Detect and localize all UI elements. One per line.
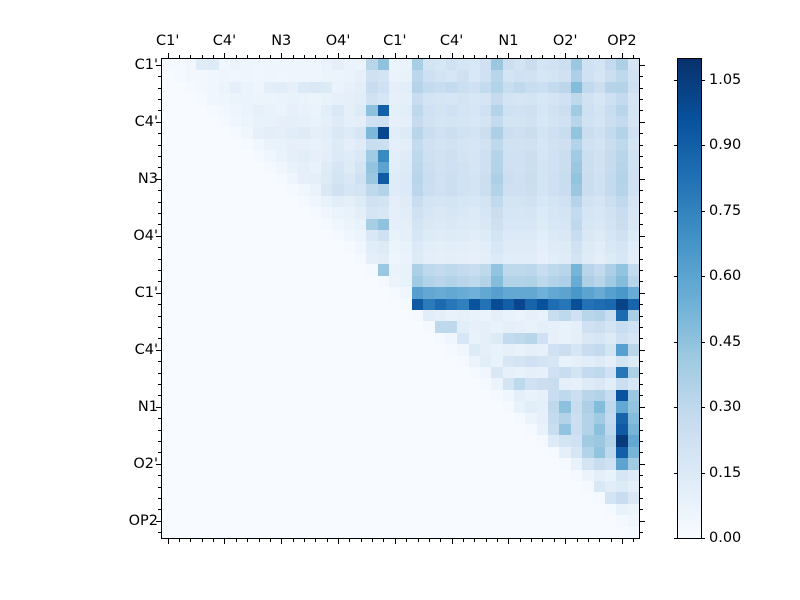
- heatmap-cell: [276, 435, 287, 446]
- heatmap-cell: [628, 378, 639, 389]
- heatmap-cell: [491, 481, 502, 492]
- y-tick: [639, 202, 643, 203]
- heatmap-cell: [616, 333, 627, 344]
- heatmap-cell: [435, 196, 446, 207]
- heatmap-cell: [344, 184, 355, 195]
- heatmap-cell: [503, 196, 514, 207]
- heatmap-cell: [378, 253, 389, 264]
- y-tick: [639, 350, 645, 351]
- y-tick: [639, 338, 643, 339]
- heatmap-cell: [594, 116, 605, 127]
- colorbar-gradient: [678, 59, 701, 538]
- heatmap-cell: [469, 413, 480, 424]
- heatmap-cell: [457, 435, 468, 446]
- heatmap-cell: [366, 310, 377, 321]
- heatmap-cell: [594, 59, 605, 70]
- heatmap-cell: [366, 287, 377, 298]
- heatmap-cell: [400, 424, 411, 435]
- heatmap-cell: [196, 196, 207, 207]
- heatmap-cell: [230, 458, 241, 469]
- heatmap-cell: [423, 241, 434, 252]
- heatmap-cell: [264, 116, 275, 127]
- y-tick: [158, 145, 162, 146]
- heatmap-cell: [253, 59, 264, 70]
- heatmap-cell: [219, 470, 230, 481]
- heatmap-cell: [332, 196, 343, 207]
- heatmap-cell: [207, 390, 218, 401]
- heatmap-cell: [480, 378, 491, 389]
- heatmap-cell: [571, 196, 582, 207]
- heatmap-cell: [571, 253, 582, 264]
- heatmap-cell: [457, 150, 468, 161]
- x-tick: [293, 55, 294, 59]
- heatmap-cell: [332, 116, 343, 127]
- x-tick: [633, 55, 634, 59]
- heatmap-cell: [366, 219, 377, 230]
- heatmap-cell: [389, 378, 400, 389]
- heatmap-cell: [332, 344, 343, 355]
- heatmap-cell: [298, 253, 309, 264]
- heatmap-cell: [173, 435, 184, 446]
- heatmap-cell: [253, 424, 264, 435]
- y-tick: [158, 133, 162, 134]
- heatmap-cell: [571, 105, 582, 116]
- heatmap-cell: [162, 162, 173, 173]
- heatmap-cell: [605, 253, 616, 264]
- heatmap-cell: [366, 378, 377, 389]
- heatmap-cell: [389, 344, 400, 355]
- heatmap-cell: [321, 310, 332, 321]
- heatmap-cell: [571, 59, 582, 70]
- heatmap-cell: [264, 481, 275, 492]
- heatmap-cell: [525, 367, 536, 378]
- heatmap-cell: [616, 150, 627, 161]
- y-tick: [639, 498, 643, 499]
- heatmap-cell: [400, 435, 411, 446]
- heatmap-cell: [525, 321, 536, 332]
- heatmap-cell: [446, 276, 457, 287]
- heatmap-cell: [400, 70, 411, 81]
- heatmap-cell: [628, 310, 639, 321]
- heatmap-cell: [355, 424, 366, 435]
- x-tick: [497, 55, 498, 59]
- heatmap-cell: [276, 401, 287, 412]
- heatmap-cell: [241, 241, 252, 252]
- y-tick-label: O2': [133, 456, 158, 472]
- heatmap-cell: [162, 299, 173, 310]
- heatmap-cell: [207, 367, 218, 378]
- heatmap-cell: [264, 447, 275, 458]
- heatmap-cell: [446, 367, 457, 378]
- heatmap-cell: [253, 241, 264, 252]
- y-tick: [639, 293, 645, 294]
- heatmap-cell: [253, 390, 264, 401]
- heatmap-cell: [616, 241, 627, 252]
- y-tick: [639, 430, 643, 431]
- heatmap-cell: [298, 481, 309, 492]
- heatmap-cell: [162, 470, 173, 481]
- heatmap-cell: [491, 93, 502, 104]
- heatmap-cell: [173, 219, 184, 230]
- heatmap-cell: [571, 321, 582, 332]
- heatmap-cell: [616, 424, 627, 435]
- heatmap-cell: [605, 207, 616, 218]
- heatmap-cell: [207, 435, 218, 446]
- heatmap-cell: [264, 470, 275, 481]
- heatmap-cell: [469, 447, 480, 458]
- heatmap-cell: [628, 276, 639, 287]
- heatmap-cell: [310, 70, 321, 81]
- heatmap-cell: [582, 264, 593, 275]
- colorbar-tick: [701, 276, 705, 277]
- heatmap-cell: [355, 59, 366, 70]
- heatmap-cell: [230, 527, 241, 538]
- heatmap-cell: [514, 230, 525, 241]
- heatmap-cell: [276, 59, 287, 70]
- heatmap-cell: [423, 390, 434, 401]
- heatmap-cell: [185, 504, 196, 515]
- heatmap-cell: [480, 173, 491, 184]
- heatmap-cell: [457, 333, 468, 344]
- heatmap-cell: [457, 390, 468, 401]
- heatmap-cell: [389, 310, 400, 321]
- heatmap-cell: [594, 515, 605, 526]
- heatmap-cell: [321, 481, 332, 492]
- heatmap-cell: [264, 241, 275, 252]
- colorbar-tick: [701, 80, 705, 81]
- heatmap-cell: [389, 390, 400, 401]
- x-tick: [588, 55, 589, 59]
- x-tick: [611, 55, 612, 59]
- x-tick: [531, 55, 532, 59]
- heatmap-cell: [173, 82, 184, 93]
- heatmap-cell: [230, 59, 241, 70]
- heatmap-cell: [366, 470, 377, 481]
- heatmap-cell: [389, 401, 400, 412]
- heatmap-cell: [276, 139, 287, 150]
- heatmap-cell: [287, 150, 298, 161]
- heatmap-cell: [253, 321, 264, 332]
- heatmap-cell: [525, 481, 536, 492]
- y-tick: [639, 156, 643, 157]
- heatmap-cell: [503, 299, 514, 310]
- heatmap-cell: [446, 321, 457, 332]
- heatmap-cell: [594, 470, 605, 481]
- heatmap-cell: [412, 401, 423, 412]
- heatmap-cell: [446, 515, 457, 526]
- heatmap-cell: [230, 105, 241, 116]
- heatmap-cell: [185, 276, 196, 287]
- heatmap-cell: [298, 299, 309, 310]
- heatmap-cell: [435, 184, 446, 195]
- heatmap-cell: [446, 59, 457, 70]
- heatmap-cell: [253, 139, 264, 150]
- heatmap-cell: [480, 492, 491, 503]
- heatmap-cell: [207, 447, 218, 458]
- heatmap-cell: [491, 504, 502, 515]
- heatmap-axes[interactable]: C1'C4'N3O4'C1'C4'N1O2'OP2C1'C4'N3O4'C1'C…: [161, 58, 640, 539]
- heatmap-cell: [628, 333, 639, 344]
- heatmap-cell: [628, 470, 639, 481]
- heatmap-cell: [298, 184, 309, 195]
- heatmap-cell: [400, 241, 411, 252]
- heatmap-cell: [469, 139, 480, 150]
- heatmap-cell: [594, 253, 605, 264]
- heatmap-cell: [344, 230, 355, 241]
- heatmap-cell: [173, 230, 184, 241]
- heatmap-cell: [446, 287, 457, 298]
- heatmap-cell: [628, 481, 639, 492]
- heatmap-cell: [514, 492, 525, 503]
- heatmap-cell: [559, 413, 570, 424]
- heatmap-cell: [514, 321, 525, 332]
- heatmap-cell: [469, 299, 480, 310]
- heatmap-cell: [355, 333, 366, 344]
- heatmap-cell: [253, 356, 264, 367]
- heatmap-cell: [287, 435, 298, 446]
- heatmap-cell: [332, 184, 343, 195]
- heatmap-cell: [582, 59, 593, 70]
- heatmap-cell: [196, 264, 207, 275]
- x-tick: [429, 538, 430, 542]
- heatmap-cell: [173, 150, 184, 161]
- heatmap-cell: [491, 413, 502, 424]
- heatmap-cell: [332, 504, 343, 515]
- heatmap-cell: [480, 527, 491, 538]
- x-tick: [202, 55, 203, 59]
- heatmap-cell: [503, 241, 514, 252]
- heatmap-cell: [162, 344, 173, 355]
- heatmap-cell: [503, 321, 514, 332]
- heatmap-cell: [616, 378, 627, 389]
- heatmap-cell: [287, 276, 298, 287]
- heatmap-cell: [525, 150, 536, 161]
- heatmap-cell: [594, 527, 605, 538]
- heatmap-cell: [196, 276, 207, 287]
- heatmap-cell: [594, 401, 605, 412]
- heatmap-cell: [276, 333, 287, 344]
- heatmap-cell: [310, 356, 321, 367]
- heatmap-cell: [457, 527, 468, 538]
- heatmap-cell: [253, 184, 264, 195]
- heatmap-cell: [230, 435, 241, 446]
- heatmap-cell: [412, 333, 423, 344]
- heatmap-cell: [480, 241, 491, 252]
- heatmap-cell: [185, 139, 196, 150]
- heatmap-cell: [559, 401, 570, 412]
- heatmap-cell: [400, 150, 411, 161]
- heatmap-cell: [491, 207, 502, 218]
- heatmap-cell: [412, 504, 423, 515]
- heatmap-cell: [310, 367, 321, 378]
- heatmap-cell: [400, 82, 411, 93]
- heatmap-cell: [207, 230, 218, 241]
- heatmap-cell: [457, 127, 468, 138]
- heatmap-cell: [344, 207, 355, 218]
- heatmap-cell: [207, 139, 218, 150]
- heatmap-cell: [378, 82, 389, 93]
- heatmap-cell: [207, 504, 218, 515]
- heatmap-cell: [355, 184, 366, 195]
- colorbar-tick: [674, 211, 678, 212]
- heatmap-cell: [423, 287, 434, 298]
- heatmap-cell: [594, 504, 605, 515]
- heatmap-cell: [185, 344, 196, 355]
- heatmap-cell: [276, 241, 287, 252]
- heatmap-cell: [219, 481, 230, 492]
- heatmap-cell: [355, 435, 366, 446]
- heatmap-cell: [412, 127, 423, 138]
- colorbar-tick: [701, 211, 705, 212]
- heatmap-cell: [298, 139, 309, 150]
- heatmap-cell: [276, 82, 287, 93]
- x-tick: [440, 55, 441, 59]
- heatmap-cell: [548, 299, 559, 310]
- heatmap-cell: [378, 127, 389, 138]
- heatmap-cell: [480, 116, 491, 127]
- heatmap-cell: [196, 253, 207, 264]
- heatmap-cell: [196, 310, 207, 321]
- heatmap-cell: [514, 401, 525, 412]
- heatmap-cell: [503, 344, 514, 355]
- y-tick: [639, 213, 643, 214]
- heatmap-cell: [389, 458, 400, 469]
- heatmap-cell: [446, 492, 457, 503]
- heatmap-cell: [548, 219, 559, 230]
- y-tick: [639, 110, 643, 111]
- heatmap-cell: [344, 276, 355, 287]
- heatmap-cell: [594, 447, 605, 458]
- heatmap-cell: [264, 276, 275, 287]
- heatmap-cell: [378, 515, 389, 526]
- heatmap-cell: [321, 162, 332, 173]
- heatmap-cell: [185, 287, 196, 298]
- heatmap-cell: [548, 241, 559, 252]
- heatmap-cell: [276, 105, 287, 116]
- heatmap-cell: [276, 458, 287, 469]
- heatmap-cell: [185, 127, 196, 138]
- heatmap-cell: [435, 207, 446, 218]
- heatmap-cell: [219, 447, 230, 458]
- heatmap-cell: [310, 287, 321, 298]
- y-tick: [639, 145, 643, 146]
- heatmap-cell: [287, 378, 298, 389]
- heatmap-cell: [332, 458, 343, 469]
- heatmap-cell: [230, 139, 241, 150]
- heatmap-cell: [514, 378, 525, 389]
- heatmap-cell: [480, 59, 491, 70]
- heatmap-cell: [525, 424, 536, 435]
- heatmap-cell: [264, 82, 275, 93]
- heatmap-cell: [355, 287, 366, 298]
- heatmap-cell: [321, 93, 332, 104]
- heatmap-cell: [435, 139, 446, 150]
- colorbar[interactable]: 0.000.150.300.450.600.750.901.05: [677, 58, 702, 539]
- heatmap-cell: [469, 287, 480, 298]
- heatmap-cell: [321, 356, 332, 367]
- heatmap-cell: [378, 481, 389, 492]
- heatmap-cell: [412, 59, 423, 70]
- heatmap-cell: [241, 253, 252, 264]
- heatmap-cell: [287, 264, 298, 275]
- heatmap-cell: [219, 321, 230, 332]
- heatmap-cell: [230, 93, 241, 104]
- heatmap-cell: [287, 299, 298, 310]
- x-tick: [236, 538, 237, 542]
- heatmap-cell: [185, 253, 196, 264]
- heatmap-cell: [457, 264, 468, 275]
- heatmap-cell: [253, 470, 264, 481]
- heatmap-cell: [616, 139, 627, 150]
- heatmap-cell: [344, 287, 355, 298]
- heatmap-cell: [628, 401, 639, 412]
- heatmap-cell: [344, 310, 355, 321]
- heatmap-cell: [491, 173, 502, 184]
- heatmap-cell: [355, 276, 366, 287]
- heatmap-cell: [480, 184, 491, 195]
- heatmap-cell: [525, 310, 536, 321]
- y-tick: [158, 304, 162, 305]
- heatmap-cell: [310, 264, 321, 275]
- heatmap-cell: [423, 378, 434, 389]
- x-tick: [577, 538, 578, 542]
- heatmap-cell: [400, 162, 411, 173]
- heatmap-cell: [276, 424, 287, 435]
- heatmap-cell: [344, 299, 355, 310]
- heatmap-cell: [219, 287, 230, 298]
- heatmap-cell: [332, 492, 343, 503]
- heatmap-cell: [616, 299, 627, 310]
- heatmap-cell: [378, 378, 389, 389]
- heatmap-cell: [321, 458, 332, 469]
- heatmap-cell: [378, 241, 389, 252]
- heatmap-cell: [355, 492, 366, 503]
- heatmap-cell: [559, 447, 570, 458]
- heatmap-cell: [503, 527, 514, 538]
- heatmap-cell: [219, 196, 230, 207]
- x-tick: [372, 538, 373, 542]
- heatmap-cell: [344, 344, 355, 355]
- heatmap-cell: [287, 241, 298, 252]
- heatmap-cell: [525, 413, 536, 424]
- colorbar-tick-label: 0.00: [709, 530, 741, 546]
- heatmap-cell: [264, 356, 275, 367]
- heatmap-cell: [310, 390, 321, 401]
- heatmap-cell: [616, 287, 627, 298]
- y-tick: [158, 509, 162, 510]
- heatmap-cell: [219, 401, 230, 412]
- heatmap-cell: [207, 150, 218, 161]
- heatmap-cell: [310, 105, 321, 116]
- heatmap-cell: [435, 310, 446, 321]
- heatmap-cell: [366, 173, 377, 184]
- heatmap-cell: [480, 139, 491, 150]
- heatmap-cell: [435, 390, 446, 401]
- heatmap-cell: [389, 70, 400, 81]
- heatmap-cell: [582, 116, 593, 127]
- heatmap-cell: [628, 367, 639, 378]
- heatmap-cell: [435, 481, 446, 492]
- heatmap-cell: [287, 367, 298, 378]
- heatmap-cell: [605, 93, 616, 104]
- heatmap-cell: [571, 390, 582, 401]
- heatmap-cell: [400, 93, 411, 104]
- heatmap-cell: [594, 93, 605, 104]
- heatmap-cell: [480, 207, 491, 218]
- heatmap-cell: [253, 310, 264, 321]
- heatmap-cell: [253, 515, 264, 526]
- heatmap-cell: [332, 424, 343, 435]
